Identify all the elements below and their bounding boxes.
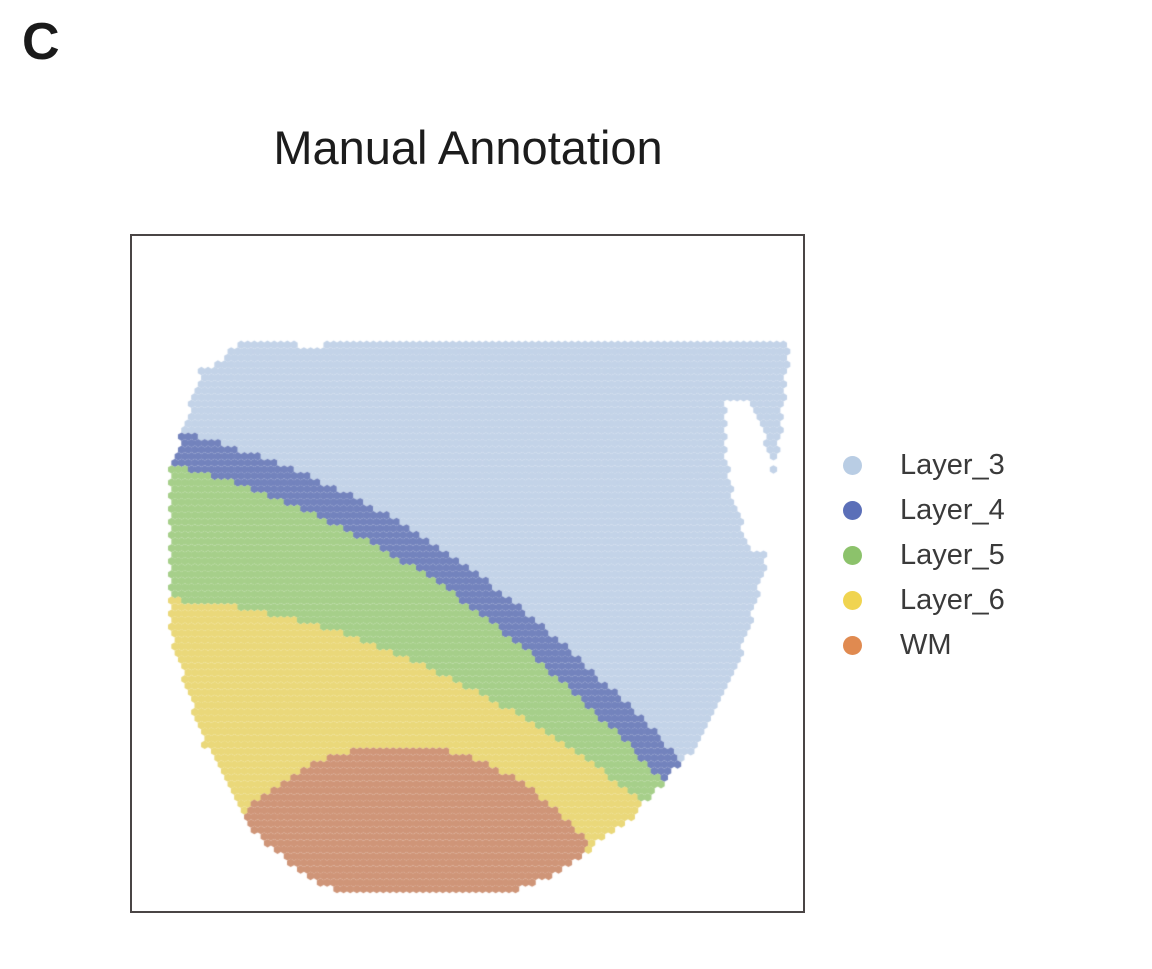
legend-item-layer-6[interactable]: Layer_6 [843,578,1005,623]
legend: Layer_3 Layer_4 Layer_5 Layer_6 WM [843,443,1005,668]
legend-item-layer-3[interactable]: Layer_3 [843,443,1005,488]
legend-item-layer-5[interactable]: Layer_5 [843,533,1005,578]
legend-item-layer-4[interactable]: Layer_4 [843,488,1005,533]
legend-marker-icon [843,501,862,520]
legend-item-label: Layer_4 [900,496,1005,525]
legend-marker-icon [843,456,862,475]
panel-label: C [22,16,59,68]
legend-item-label: Layer_5 [900,541,1005,570]
legend-marker-icon [843,591,862,610]
spatial-plot-panel [130,234,805,913]
legend-marker-icon [843,546,862,565]
spot-scatter-canvas [132,236,803,911]
legend-item-wm[interactable]: WM [843,623,1005,668]
legend-marker-icon [843,636,862,655]
legend-item-label: Layer_6 [900,586,1005,615]
plot-title: Manual Annotation [130,122,806,174]
legend-item-label: WM [900,631,952,660]
legend-item-label: Layer_3 [900,451,1005,480]
